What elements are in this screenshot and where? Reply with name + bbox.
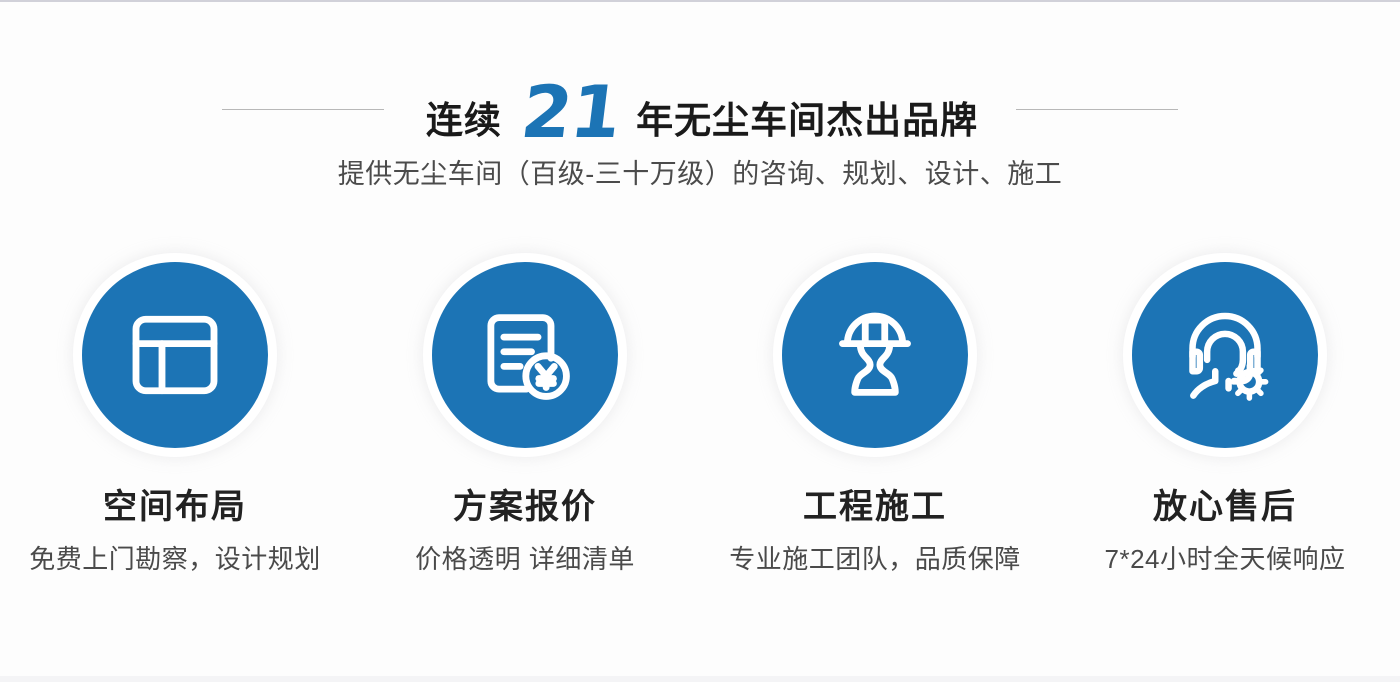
bottom-divider [0, 676, 1400, 682]
construction-worker-icon [823, 303, 927, 407]
headline-rule-right [1016, 109, 1178, 110]
document-yuan-quote-icon [473, 303, 577, 407]
feature-title: 放心售后 [1153, 490, 1297, 524]
feature-item-space-layout[interactable]: 空间布局 免费上门勘察，设计规划 [0, 262, 350, 572]
feature-icon-circle [82, 262, 268, 448]
feature-title: 空间布局 [103, 490, 247, 524]
layout-grid-icon [123, 303, 227, 407]
feature-list: 空间布局 免费上门勘察，设计规划 方案报价 价格透明 详细清单 [0, 262, 1400, 572]
feature-desc: 价格透明 详细清单 [415, 546, 635, 572]
feature-desc: 免费上门勘察，设计规划 [29, 546, 321, 572]
feature-item-construction[interactable]: 工程施工 专业施工团队，品质保障 [700, 262, 1050, 572]
headline-rule-left [222, 109, 384, 110]
feature-desc: 专业施工团队，品质保障 [729, 546, 1021, 572]
promo-banner: 连续 21 年无尘车间杰出品牌 提供无尘车间（百级-三十万级）的咨询、规划、设计… [0, 0, 1400, 682]
feature-icon-circle [432, 262, 618, 448]
headline-prefix: 连续 [426, 102, 502, 139]
headline-text: 连续 21 年无尘车间杰出品牌 [426, 80, 978, 139]
top-divider [0, 0, 1400, 2]
feature-item-after-sales[interactable]: 放心售后 7*24小时全天候响应 [1050, 262, 1400, 572]
feature-title: 方案报价 [453, 490, 597, 524]
feature-icon-circle [1132, 262, 1318, 448]
headline-row: 连续 21 年无尘车间杰出品牌 [0, 78, 1400, 140]
feature-title: 工程施工 [803, 490, 947, 524]
feature-icon-circle [782, 262, 968, 448]
feature-desc: 7*24小时全天候响应 [1105, 546, 1346, 572]
headline-suffix: 年无尘车间杰出品牌 [636, 102, 978, 139]
headline-year-number: 21 [518, 84, 623, 140]
subheadline: 提供无尘车间（百级-三十万级）的咨询、规划、设计、施工 [0, 158, 1400, 190]
feature-item-quotation[interactable]: 方案报价 价格透明 详细清单 [350, 262, 700, 572]
headset-support-gear-icon [1173, 303, 1277, 407]
